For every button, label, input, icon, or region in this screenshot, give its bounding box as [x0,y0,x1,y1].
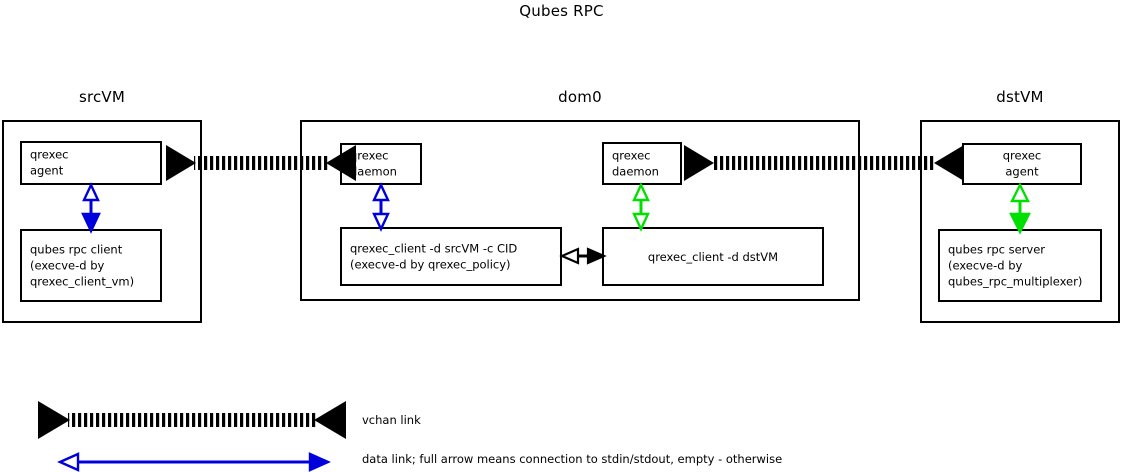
diagram-canvas: Qubes RPC srcVM dom0 dstVM qrexec agent … [0,0,1123,472]
page-title: Qubes RPC [0,2,1123,20]
node-qubes-rpc-server[interactable]: qubes rpc server (execve-d by qubes_rpc_… [938,229,1102,302]
legend-label-vchan: vchan link [362,413,421,427]
node-label: qubes rpc client (execve-d by qrexec_cli… [30,241,134,290]
legend-sample-data [60,454,328,470]
legend-label-data: data link; full arrow means connection t… [362,452,782,466]
node-qrexec-daemon-right[interactable]: qrexec daemon [602,142,682,185]
group-label-srcvm: srcVM [2,88,202,106]
node-qubes-rpc-client[interactable]: qubes rpc client (execve-d by qrexec_cli… [20,229,162,302]
node-label: qrexec_client -d srcVM -c CID (execve-d … [350,240,517,273]
group-label-dstvm: dstVM [920,88,1120,106]
node-qrexec-agent-dst[interactable]: qrexec agent [962,143,1082,185]
node-qrexec-agent-src[interactable]: qrexec agent [20,141,162,185]
group-label-dom0: dom0 [300,88,860,106]
node-qrexec-client-srcvm[interactable]: qrexec_client -d srcVM -c CID (execve-d … [340,227,562,286]
node-label: qrexec agent [30,147,69,180]
node-label: qrexec daemon [612,147,659,180]
legend-sample-vchan [38,401,346,439]
node-label: qrexec agent [964,148,1080,181]
node-qrexec-client-dstvm[interactable]: qrexec_client -d dstVM [602,227,824,286]
node-label: qrexec daemon [350,148,397,181]
node-label: qubes rpc server (execve-d by qubes_rpc_… [948,241,1082,290]
node-label: qrexec_client -d dstVM [604,248,822,264]
